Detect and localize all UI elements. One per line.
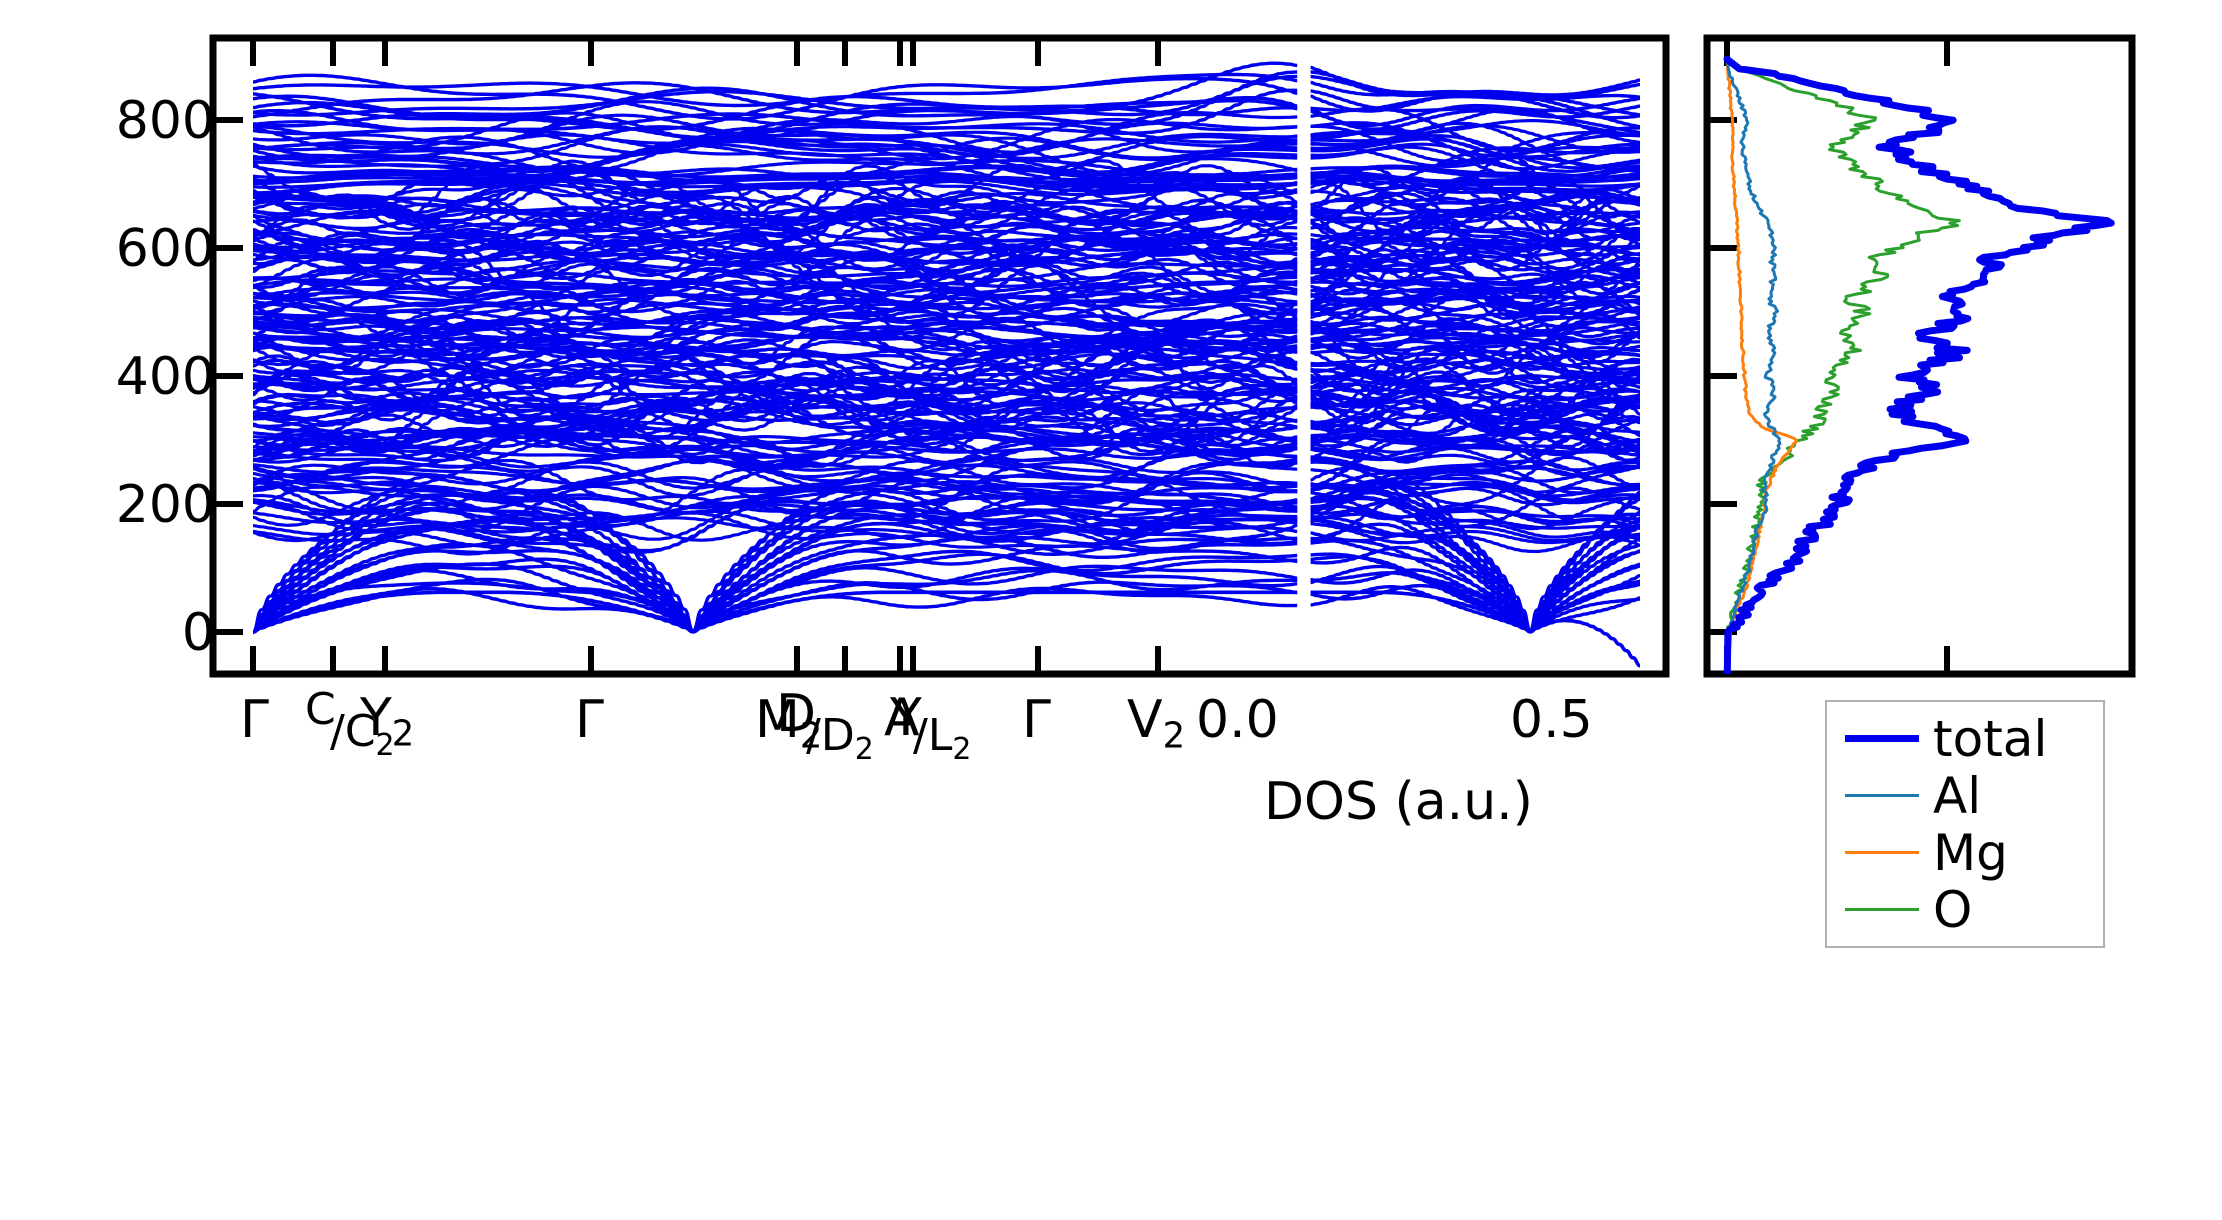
legend-swatch-total — [1845, 735, 1919, 742]
band-curves-segment-a — [253, 63, 1297, 632]
legend-item-mg[interactable]: Mg — [1827, 824, 2103, 881]
legend-item-o[interactable]: O — [1827, 881, 2103, 938]
legend-label-al: Al — [1933, 771, 1981, 821]
band-y-ticks — [213, 120, 243, 632]
band-curves-segment-b — [1311, 67, 1640, 665]
legend-item-al[interactable]: Al — [1827, 767, 2103, 824]
dos-y-ticks — [1707, 120, 1737, 632]
legend-label-total: total — [1933, 714, 2047, 764]
phonon-figure: Frequency (cm−1) 800 600 400 200 0 Γ C /… — [0, 0, 2222, 1220]
dos-curves — [1727, 59, 2111, 693]
figure-canvas — [0, 0, 2222, 1220]
legend-swatch-mg — [1845, 851, 1919, 854]
legend-label-o: O — [1933, 885, 1972, 935]
legend-swatch-o — [1845, 908, 1919, 911]
legend-swatch-al — [1845, 794, 1919, 797]
dos-legend: total Al Mg O — [1825, 700, 2105, 948]
legend-label-mg: Mg — [1933, 828, 2008, 878]
legend-item-total[interactable]: total — [1827, 710, 2103, 767]
